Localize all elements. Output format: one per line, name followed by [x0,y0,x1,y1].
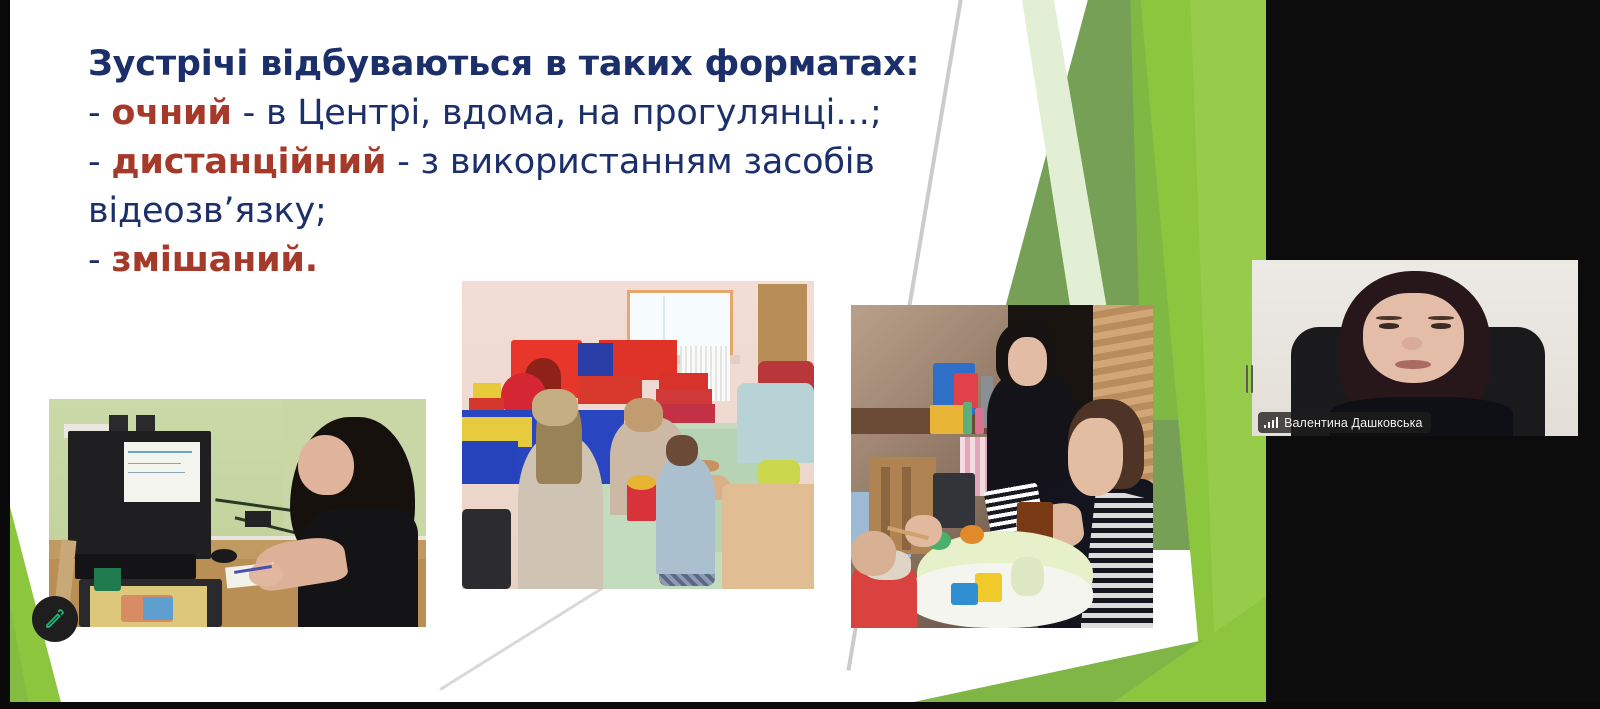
photo2-wooden-table [722,484,814,589]
pencil-icon [43,607,67,631]
photo3-child-head [851,531,896,576]
bullet-1-dash: - [88,93,111,133]
photo3-tray-cup-holder [1011,557,1044,596]
video-eye-left [1379,323,1399,328]
photo2-child-head [666,435,698,466]
video-eyebrow-left [1376,316,1402,320]
photo1-paper-line-2 [128,463,181,465]
participants-panel: Валентина Дашковська [1266,0,1600,709]
slide-photo-specialist-at-desk [49,399,426,627]
signal-strength-icon [1264,417,1278,428]
photo1-paper-line-1 [128,451,192,453]
photo1-green-cup [94,568,120,591]
slide-bullet-2-cont: відеозв’язку; [88,187,988,236]
photo3-standing-woman-face [1008,337,1047,385]
participant-name-label: Валентина Дашковська [1284,416,1422,430]
photo2-armchair-blue [737,383,814,463]
bullet-2-highlight: дистанційний [111,142,386,182]
photo3-bottle-pink [975,408,984,434]
photo1-power-socket [245,511,271,527]
photo3-dark-bin [933,473,975,528]
bullet-2-dash: - [88,142,111,182]
photo3-snack-packet [930,405,966,434]
window-bottom-bar [0,702,1600,709]
bullet-1-rest: - в Центрі, вдома, на прогулянці…; [232,93,882,133]
photo3-bottle-green [963,402,972,434]
video-eyebrow-right [1428,316,1454,320]
video-eye-right [1431,323,1451,328]
photo2-child-torso [656,457,716,574]
slide-bullet-1: - очний - в Центрі, вдома, на прогулянці… [88,89,988,138]
photo2-stacking-toy-ring [627,475,655,490]
panel-resize-handle[interactable] [1244,364,1254,394]
bullet-3-highlight: змішаний. [111,240,317,280]
window-left-edge [0,0,10,709]
participant-video-tile[interactable]: Валентина Дашковська [1252,260,1578,436]
bullet-1-highlight: очний [111,93,231,133]
photo2-floor-mat-blue-2 [462,441,518,484]
bullet-3-dash: - [88,240,111,280]
app-stage: Зустрічі відбуваються в таких форматах: … [0,0,1600,709]
handle-bar-2 [1251,365,1253,393]
video-nose [1402,337,1422,349]
annotate-button[interactable] [32,596,78,642]
photo1-book-art-2 [143,597,173,620]
slide-text-block: Зустрічі відбуваються в таких форматах: … [88,40,988,285]
participant-name-badge: Валентина Дашковська [1258,412,1431,433]
slide-heading: Зустрічі відбуваються в таких форматах: [88,40,988,89]
shared-slide[interactable]: Зустрічі відбуваються в таких форматах: … [10,0,1266,702]
slide-photo-sensory-room [462,281,814,589]
slide-photo-home-visit [851,305,1153,628]
photo1-paper-line-3 [128,472,185,474]
photo1-woman-face [298,435,355,494]
photo2-dark-chair [462,509,511,589]
photo3-toy-blue [951,583,978,606]
photo2-parent-head [532,389,578,426]
handle-bar-1 [1246,365,1248,393]
photo3-seated-woman-face [1068,418,1122,496]
photo3-toy-yellow [975,573,1002,602]
photo2-specialist-head [624,398,663,432]
slide-bullet-3: - змішаний. [88,236,988,285]
bullet-2-rest: - з використанням засобів [386,142,874,182]
photo3-toy-orange [960,525,984,544]
photo2-child-chair-green [758,460,800,488]
slide-bullet-2: - дистанційний - з використанням засобів [88,138,988,187]
